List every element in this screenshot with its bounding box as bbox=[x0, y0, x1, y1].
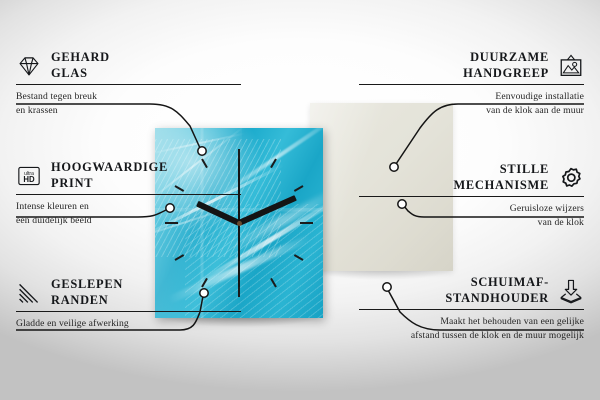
feature-rule bbox=[16, 84, 241, 85]
feature-title: DUURZAMEHANDGREEP bbox=[463, 50, 549, 81]
feature-title: SCHUIMAF-STANDHOUDER bbox=[445, 275, 549, 306]
feature-geslepen-randen: GESLEPENRANDEN Gladde en veilige afwerki… bbox=[16, 277, 241, 331]
feature-hoogwaardige-print: ultra HD HOOGWAARDIGEPRINT Intense kleur… bbox=[16, 160, 241, 228]
feature-title: HOOGWAARDIGEPRINT bbox=[51, 160, 168, 191]
framed-picture-hanger-icon bbox=[558, 53, 584, 79]
bevelled-edges-icon bbox=[16, 280, 42, 306]
down-arrow-pad-icon bbox=[558, 278, 584, 304]
clock-tick bbox=[300, 222, 313, 224]
feature-rule bbox=[359, 309, 584, 310]
feature-stille-mechanisme: STILLEMECHANISME Geruisloze wijzersvan d… bbox=[359, 162, 584, 230]
ultra-hd-icon: ultra HD bbox=[16, 163, 42, 189]
feature-header: GESLEPENRANDEN bbox=[16, 277, 241, 308]
feature-gehard-glas: GEHARDGLAS Bestand tegen breuken krassen bbox=[16, 50, 241, 118]
svg-text:HD: HD bbox=[23, 175, 35, 184]
feature-header: DUURZAMEHANDGREEP bbox=[359, 50, 584, 81]
feature-header: STILLEMECHANISME bbox=[359, 162, 584, 193]
feature-title: GESLEPENRANDEN bbox=[51, 277, 123, 308]
feature-rule bbox=[359, 84, 584, 85]
feature-rule bbox=[16, 194, 241, 195]
feature-header: GEHARDGLAS bbox=[16, 50, 241, 81]
feature-header: SCHUIMAF-STANDHOUDER bbox=[359, 275, 584, 306]
feature-header: ultra HD HOOGWAARDIGEPRINT bbox=[16, 160, 241, 191]
feature-schuimafstandhouder: SCHUIMAF-STANDHOUDER Maakt het behouden … bbox=[359, 275, 584, 343]
feature-rule bbox=[359, 196, 584, 197]
feature-subtitle: Maakt het behouden van een gelijkeafstan… bbox=[359, 315, 584, 343]
feature-duurzame-handgreep: DUURZAMEHANDGREEP Eenvoudige installatie… bbox=[359, 50, 584, 118]
feature-subtitle: Bestand tegen breuken krassen bbox=[16, 90, 241, 118]
gear-icon bbox=[558, 165, 584, 191]
feature-title: GEHARDGLAS bbox=[51, 50, 110, 81]
feature-subtitle: Geruisloze wijzersvan de klok bbox=[359, 202, 584, 230]
infographic-stage: GEHARDGLAS Bestand tegen breuken krassen… bbox=[0, 0, 600, 400]
feature-title: STILLEMECHANISME bbox=[453, 162, 549, 193]
feature-subtitle: Eenvoudige installatievan de klok aan de… bbox=[359, 90, 584, 118]
feature-subtitle: Intense kleuren eneen duidelijk beeld bbox=[16, 200, 241, 228]
diamond-icon bbox=[16, 53, 42, 79]
feature-rule bbox=[16, 311, 241, 312]
feature-subtitle: Gladde en veilige afwerking bbox=[16, 317, 241, 331]
